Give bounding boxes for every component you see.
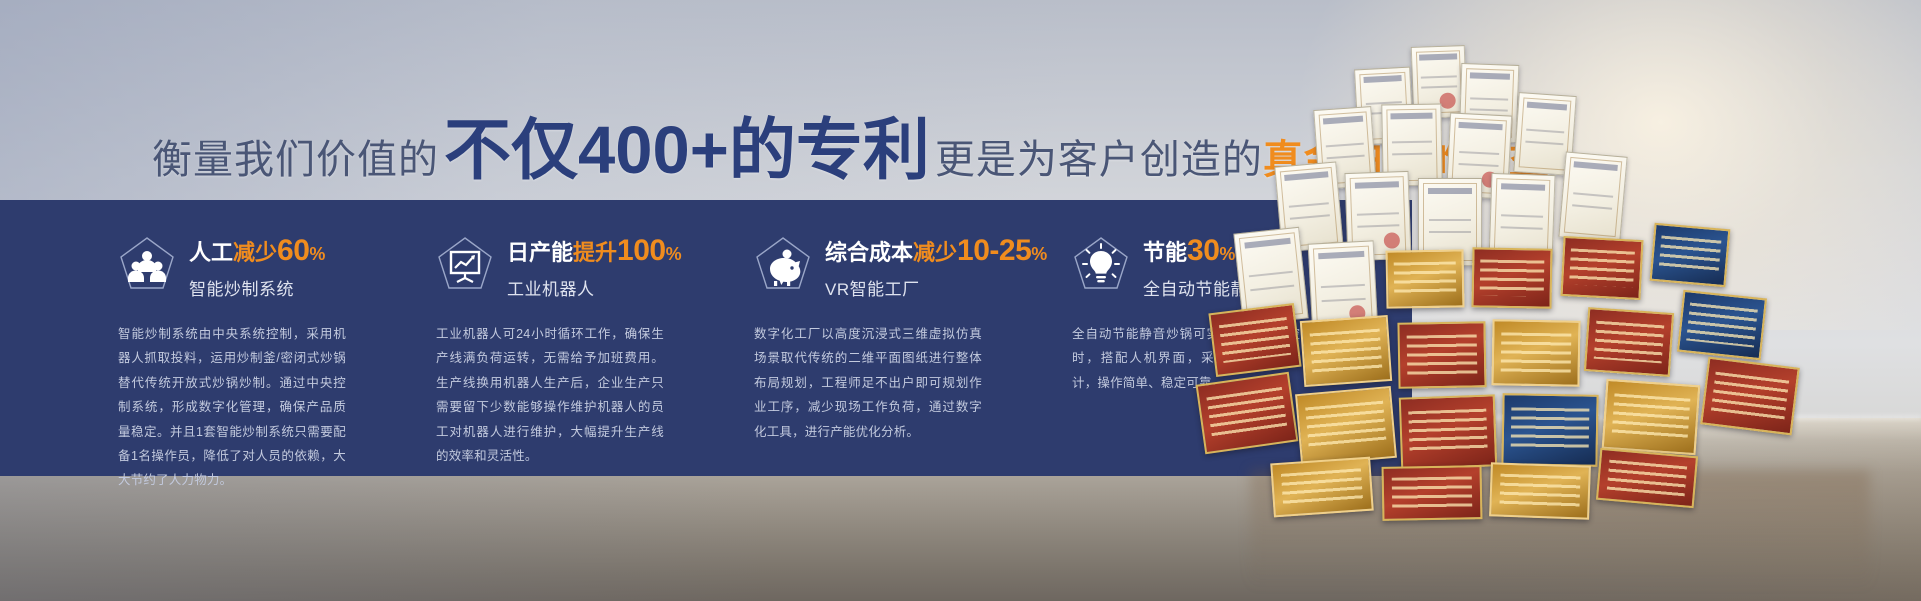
feature-item-cost[interactable]: 综合成本减少10-25% VR智能工厂 数字化工厂以高度沉浸式三维虚拟仿真场景取… [754, 200, 1072, 476]
certificate-plaque [1677, 290, 1767, 360]
piggy-bank-icon [754, 235, 812, 297]
certificate-plaque [1584, 307, 1674, 377]
certificate-plaque [1382, 465, 1483, 521]
certificate-plaque [1501, 393, 1598, 467]
feature-header: 综合成本减少10-25% VR智能工厂 [754, 233, 1072, 300]
banner-stage: 衡量我们价值的 不仅400+的专利 更是为客户创造的 真金白银的效益 [0, 0, 1921, 601]
feature-header: 日产能提升100% 工业机器人 [436, 233, 754, 300]
feature-title-white: 节能 [1143, 240, 1187, 265]
feature-title-white: 人工 [189, 240, 233, 265]
feature-title-unit: % [309, 244, 325, 264]
certificate-plaque [1385, 249, 1464, 308]
feature-subtitle: 智能炒制系统 [189, 275, 325, 300]
feature-title: 日产能提升100% [507, 236, 682, 266]
feature-item-capacity[interactable]: 日产能提升100% 工业机器人 工业机器人可24小时循环工作，确保生产线满负荷运… [436, 200, 754, 476]
certificate-plaque [1596, 448, 1698, 508]
light-bulb-icon [1072, 235, 1130, 297]
feature-titles: 日产能提升100% 工业机器人 [507, 233, 682, 300]
feature-titles: 人工减少60% 智能炒制系统 [189, 233, 325, 300]
certificate-plaque [1208, 303, 1301, 377]
certificate-plaque [1270, 457, 1374, 518]
certificate-paper [1558, 151, 1627, 242]
feature-body: 智能炒制系统由中央系统控制，采用机器人抓取投料，运用炒制釜/密闭式炒锅替代传统开… [118, 322, 346, 493]
certificate-plaque [1700, 357, 1800, 436]
certificate-plaque [1397, 321, 1486, 389]
feature-title-orange: 减少 [913, 240, 957, 265]
feature-title-number: 60 [277, 234, 309, 267]
certificate-plaque [1491, 319, 1580, 387]
certificate-plaque [1650, 223, 1731, 287]
feature-title-number: 10-25 [957, 234, 1031, 267]
chart-board-icon [436, 235, 494, 297]
feature-title-orange: 减少 [233, 240, 277, 265]
certificate-plaque [1560, 236, 1643, 300]
headline-lead: 衡量我们价值的 [152, 127, 439, 185]
feature-header: 人工减少60% 智能炒制系统 [118, 233, 436, 300]
feature-title-orange: 提升 [573, 240, 617, 265]
feature-title: 人工减少60% [189, 236, 325, 266]
certificate-plaque [1295, 386, 1397, 466]
certificate-plaque [1300, 315, 1392, 387]
feature-title-white: 综合成本 [825, 240, 913, 265]
feature-item-labor[interactable]: 人工减少60% 智能炒制系统 智能炒制系统由中央系统控制，采用机器人抓取投料，运… [118, 200, 436, 476]
feature-titles: 综合成本减少10-25% VR智能工厂 [825, 233, 1047, 300]
feature-subtitle: 工业机器人 [507, 275, 682, 300]
people-group-icon [118, 235, 176, 297]
feature-title: 综合成本减少10-25% [825, 236, 1047, 266]
feature-title-unit: % [666, 244, 682, 264]
certificate-plaque [1399, 394, 1497, 469]
certificate-plaque [1471, 247, 1552, 308]
feature-body: 数字化工厂以高度沉浸式三维虚拟仿真场景取代传统的二维平面图纸进行整体布局规划，工… [754, 322, 982, 444]
feature-title-number: 100 [617, 234, 666, 267]
certificate-wall [1190, 42, 1921, 512]
certificate-plaque [1489, 462, 1591, 519]
feature-body: 工业机器人可24小时循环工作，确保生产线满负荷运转，无需给予加班费用。生产线换用… [436, 322, 664, 468]
certificate-plaque [1196, 372, 1299, 454]
certificate-plaque [1602, 379, 1701, 455]
feature-subtitle: VR智能工厂 [825, 275, 1047, 300]
feature-title-unit: % [1031, 244, 1047, 264]
headline-emphasis: 不仅400+的专利 [444, 96, 930, 193]
feature-title-white: 日产能 [507, 240, 573, 265]
